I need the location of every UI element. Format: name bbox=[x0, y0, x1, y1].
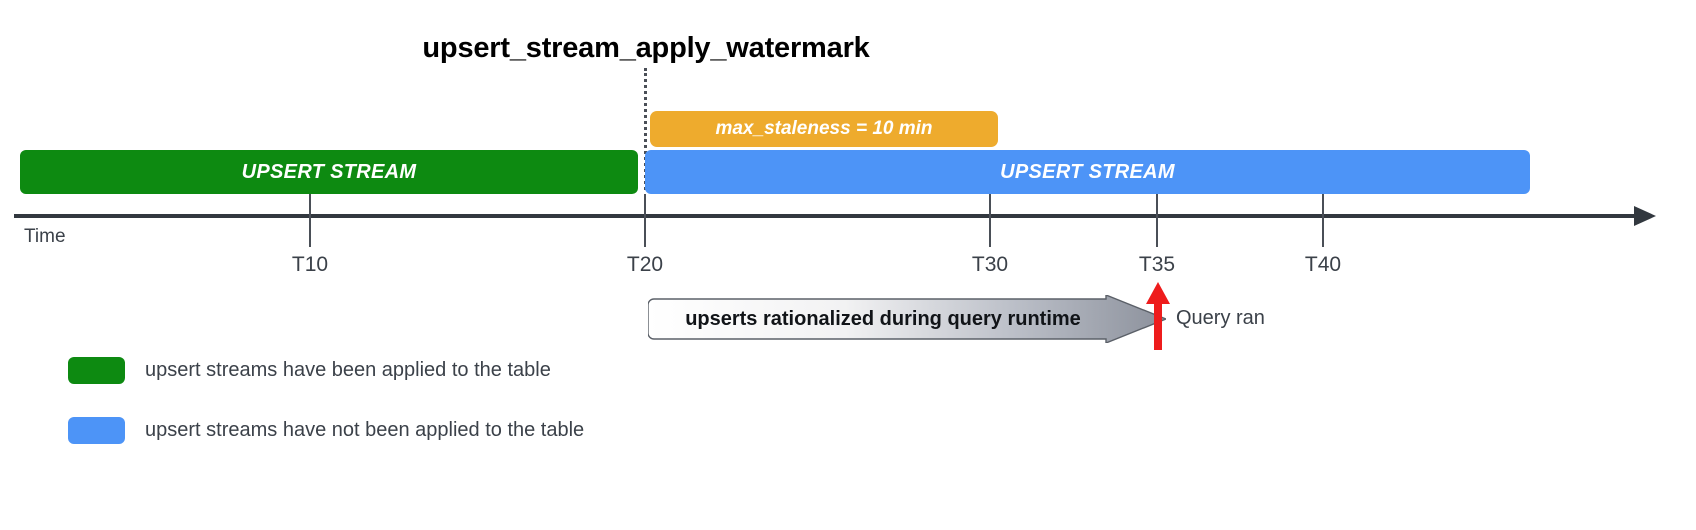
legend-swatch-green-icon bbox=[68, 357, 125, 384]
upsert-stream-not-applied-label: UPSERT STREAM bbox=[1000, 161, 1175, 184]
tick-mark-t10 bbox=[309, 194, 311, 247]
time-axis-label: Time bbox=[24, 226, 66, 248]
tick-label-t35: T35 bbox=[1139, 253, 1175, 277]
legend-item-applied: upsert streams have been applied to the … bbox=[68, 357, 551, 384]
tick-label-t20: T20 bbox=[627, 253, 663, 277]
query-ran-arrow-icon bbox=[1145, 280, 1171, 350]
legend-swatch-blue-icon bbox=[68, 417, 125, 444]
query-ran-label: Query ran bbox=[1176, 307, 1265, 330]
legend-label-not-applied: upsert streams have not been applied to … bbox=[145, 419, 584, 442]
legend-label-applied: upsert streams have been applied to the … bbox=[145, 359, 551, 382]
max-staleness-label: max_staleness = 10 min bbox=[715, 118, 932, 140]
max-staleness-bar: max_staleness = 10 min bbox=[650, 111, 998, 147]
upsert-stream-not-applied-bar: UPSERT STREAM bbox=[645, 150, 1530, 194]
tick-mark-t35 bbox=[1156, 194, 1158, 247]
tick-label-t40: T40 bbox=[1305, 253, 1341, 277]
timeline-diagram: upsert_stream_apply_watermark max_stalen… bbox=[0, 0, 1696, 530]
upsert-stream-applied-label: UPSERT STREAM bbox=[242, 161, 417, 184]
tick-mark-t30 bbox=[989, 194, 991, 247]
tick-mark-t40 bbox=[1322, 194, 1324, 247]
diagram-title: upsert_stream_apply_watermark bbox=[0, 32, 1292, 65]
time-axis-line bbox=[14, 214, 1644, 218]
rationalize-arrow-shape bbox=[648, 295, 1166, 343]
upsert-stream-applied-bar: UPSERT STREAM bbox=[20, 150, 638, 194]
legend-item-not-applied: upsert streams have not been applied to … bbox=[68, 417, 584, 444]
tick-label-t10: T10 bbox=[292, 253, 328, 277]
tick-label-t30: T30 bbox=[972, 253, 1008, 277]
time-axis-arrow-icon bbox=[1634, 206, 1656, 226]
tick-mark-t20 bbox=[644, 194, 646, 247]
